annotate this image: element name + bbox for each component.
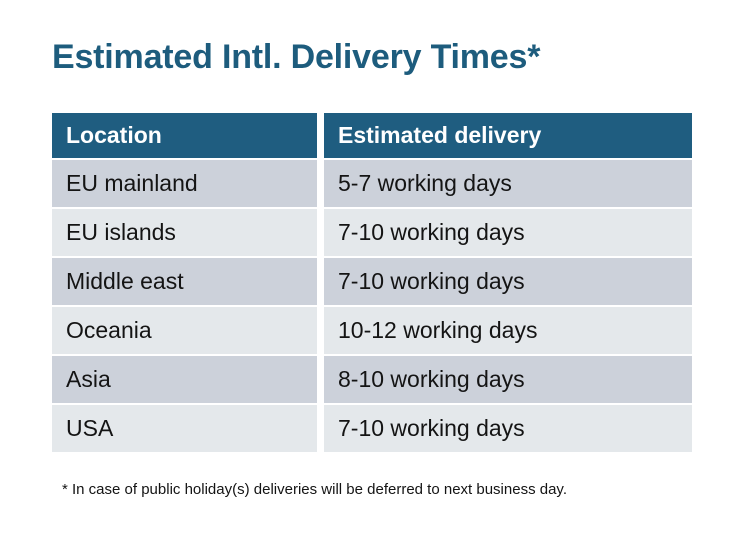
page-title: Estimated Intl. Delivery Times* xyxy=(52,36,540,78)
table-row: Asia 8-10 working days xyxy=(52,356,692,403)
column-divider xyxy=(317,160,324,207)
column-divider xyxy=(317,405,324,452)
table-row: Middle east 7-10 working days xyxy=(52,258,692,305)
table-row: EU mainland 5-7 working days xyxy=(52,160,692,207)
cell-estimated-delivery: 7-10 working days xyxy=(324,209,692,256)
cell-location: Oceania xyxy=(52,307,317,354)
delivery-times-table: Location Estimated delivery EU mainland … xyxy=(52,113,692,452)
delivery-times-page: Estimated Intl. Delivery Times* Location… xyxy=(0,0,745,536)
cell-location: EU islands xyxy=(52,209,317,256)
cell-location: USA xyxy=(52,405,317,452)
column-divider xyxy=(317,258,324,305)
footnote-text: * In case of public holiday(s) deliverie… xyxy=(62,479,567,501)
cell-location: EU mainland xyxy=(52,160,317,207)
table-row: EU islands 7-10 working days xyxy=(52,209,692,256)
column-divider xyxy=(317,307,324,354)
table-row: Oceania 10-12 working days xyxy=(52,307,692,354)
cell-estimated-delivery: 7-10 working days xyxy=(324,405,692,452)
column-header-location: Location xyxy=(52,113,317,158)
table-row: USA 7-10 working days xyxy=(52,405,692,452)
cell-location: Asia xyxy=(52,356,317,403)
column-header-estimated-delivery: Estimated delivery xyxy=(324,113,692,158)
cell-estimated-delivery: 5-7 working days xyxy=(324,160,692,207)
cell-estimated-delivery: 8-10 working days xyxy=(324,356,692,403)
cell-estimated-delivery: 7-10 working days xyxy=(324,258,692,305)
cell-location: Middle east xyxy=(52,258,317,305)
cell-estimated-delivery: 10-12 working days xyxy=(324,307,692,354)
table-header-row: Location Estimated delivery xyxy=(52,113,692,158)
column-divider xyxy=(317,113,324,158)
column-divider xyxy=(317,356,324,403)
column-divider xyxy=(317,209,324,256)
